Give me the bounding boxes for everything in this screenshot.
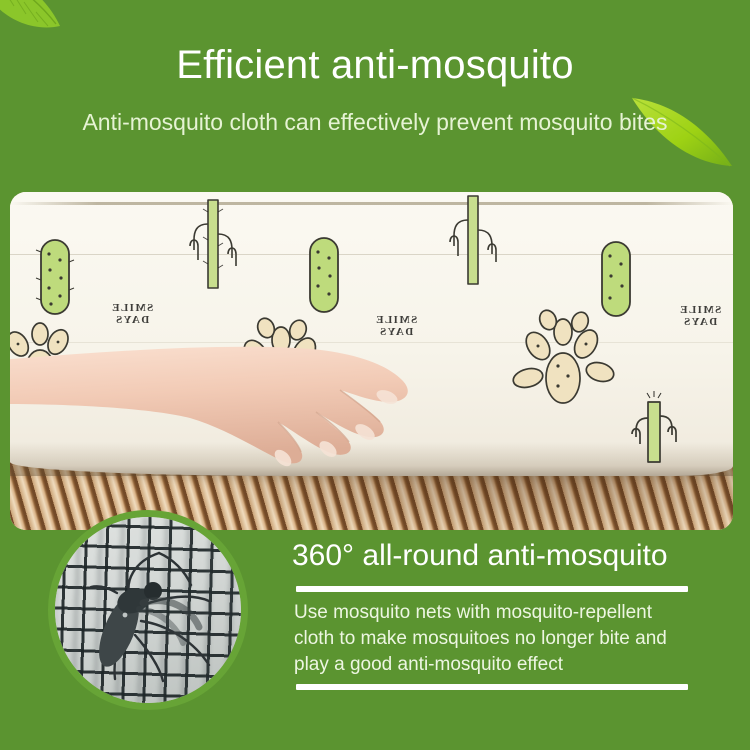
feature-body-line: play a good anti-mosquito effect [294, 652, 706, 678]
cactus-icon [182, 196, 244, 292]
product-banner: Efficient anti-mosquito Anti-mosquito cl… [0, 0, 750, 750]
cactus-icon [301, 230, 347, 322]
feature-body: Use mosquito nets with mosquito-repellen… [294, 600, 706, 678]
page-title: Efficient anti-mosquito [0, 42, 750, 88]
fabric-print-text: SMILE DAYS [670, 304, 730, 328]
cactus-icon [628, 388, 680, 466]
cactus-icon [442, 192, 504, 288]
hero-photo: SMILE DAYS SMILE DAYS SMILE DAYS [10, 192, 733, 530]
fabric-print-text: SMILE DAYS [366, 314, 426, 338]
fabric-print-text: SMILE DAYS [102, 302, 162, 326]
feature-body-line: Use mosquito nets with mosquito-repellen… [294, 600, 706, 626]
mosquito-closeup-inset [48, 510, 248, 710]
page-subtitle: Anti-mosquito cloth can effectively prev… [0, 108, 750, 136]
divider-bottom [296, 684, 688, 690]
hand [10, 342, 530, 476]
cloth-hem [10, 202, 733, 205]
feature-heading: 360° all-round anti-mosquito [292, 538, 668, 574]
divider-top [296, 586, 688, 592]
feature-body-line: cloth to make mosquitoes no longer bite … [294, 626, 706, 652]
mosquito-icon [73, 539, 223, 689]
